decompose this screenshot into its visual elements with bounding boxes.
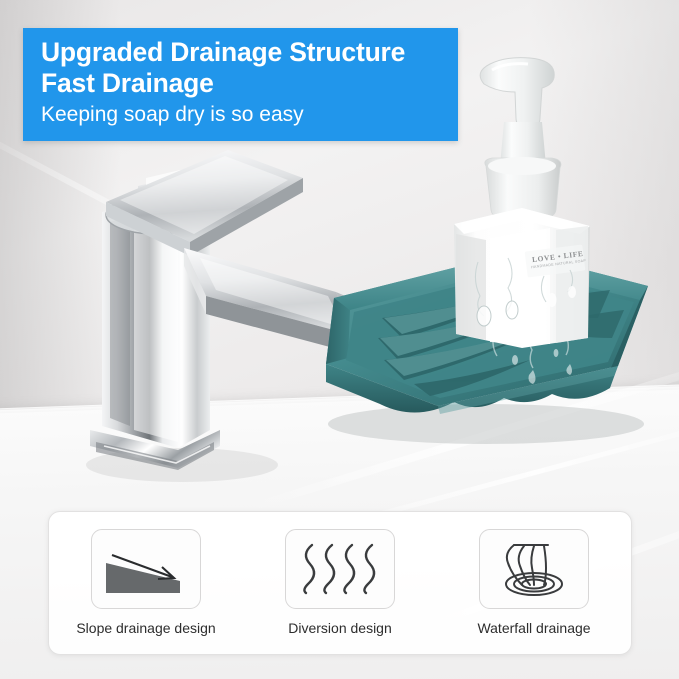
- pump-nozzle: [480, 58, 554, 128]
- headline-banner: Upgraded Drainage Structure Fast Drainag…: [23, 28, 458, 141]
- feature-slope-drainage: Slope drainage design: [58, 529, 234, 636]
- waterfall-ripple-icon: [484, 537, 584, 601]
- slope-icon-box: [91, 529, 201, 609]
- headline-line-2: Fast Drainage: [41, 68, 458, 99]
- feature-waterfall: Waterfall drainage: [446, 529, 622, 636]
- feature-label: Diversion design: [288, 620, 392, 636]
- feature-label: Slope drainage design: [76, 620, 215, 636]
- wavy-lines-icon: [290, 537, 390, 601]
- headline-line-1: Upgraded Drainage Structure: [41, 37, 458, 68]
- headline-subtext: Keeping soap dry is so easy: [41, 100, 458, 130]
- waterfall-icon-box: [479, 529, 589, 609]
- feature-panel: Slope drainage design Diversion design: [48, 511, 632, 655]
- diversion-icon-box: [285, 529, 395, 609]
- feature-label: Waterfall drainage: [477, 620, 590, 636]
- product-marketing-image: LOVE • LIFE HANDMADE NATURAL SOAP Upgrad…: [0, 0, 679, 679]
- feature-diversion: Diversion design: [252, 529, 428, 636]
- slope-wedge-arrow-icon: [96, 537, 196, 601]
- tray-rim-left: [326, 298, 350, 364]
